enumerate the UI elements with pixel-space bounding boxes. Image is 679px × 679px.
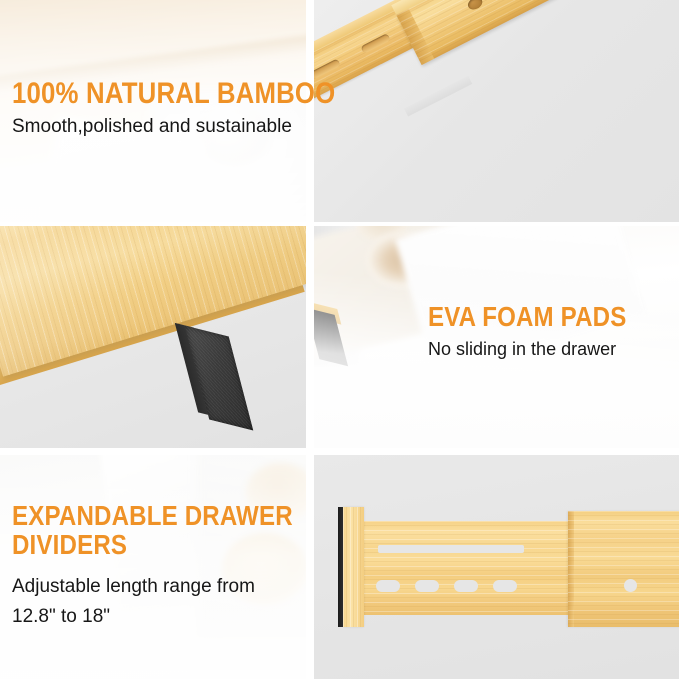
text-block-eva-foam-pads: EVA FOAM PADS No sliding in the drawer bbox=[428, 302, 659, 361]
panel-divider-vertical-middle bbox=[306, 222, 314, 455]
outer-sleeve bbox=[568, 511, 679, 627]
subheading-eva-foam-pads: No sliding in the drawer bbox=[428, 338, 659, 361]
panel-side-profile bbox=[314, 455, 679, 679]
oval-slot bbox=[454, 580, 478, 592]
panel-divider-horizontal-2 bbox=[0, 448, 679, 455]
heading-eva-foam-pads: EVA FOAM PADS bbox=[428, 302, 626, 331]
oval-slot bbox=[376, 580, 400, 592]
oval-slot bbox=[415, 580, 439, 592]
bamboo-grain bbox=[568, 511, 679, 627]
heading-natural-bamboo: 100% NATURAL BAMBOO bbox=[12, 78, 335, 109]
subheading-length-values: 12.8" to 18" bbox=[12, 603, 338, 631]
panel-divider-horizontal-1 bbox=[0, 222, 679, 226]
panel-foam-pad-plank bbox=[0, 226, 306, 448]
heading-expandable-drawer: EXPANDABLE DRAWER bbox=[12, 501, 293, 530]
subheading-adjustable-range: Adjustable length range from bbox=[12, 573, 338, 601]
bamboo-end-cap bbox=[343, 507, 364, 627]
long-adjustment-slot bbox=[378, 545, 524, 553]
text-block-bamboo-material: 100% NATURAL BAMBOO Smooth,polished and … bbox=[12, 78, 388, 140]
infographic-sheet: 100% NATURAL BAMBOO Smooth,polished and … bbox=[0, 0, 679, 679]
subheading-natural-bamboo: Smooth,polished and sustainable bbox=[12, 115, 388, 139]
round-hole bbox=[624, 579, 637, 592]
oval-slot bbox=[493, 580, 517, 592]
bamboo-grain bbox=[343, 507, 364, 627]
text-block-expandable-dividers: EXPANDABLE DRAWER DIVIDERS Adjustable le… bbox=[12, 501, 338, 630]
heading-dividers: DIVIDERS bbox=[12, 530, 293, 559]
